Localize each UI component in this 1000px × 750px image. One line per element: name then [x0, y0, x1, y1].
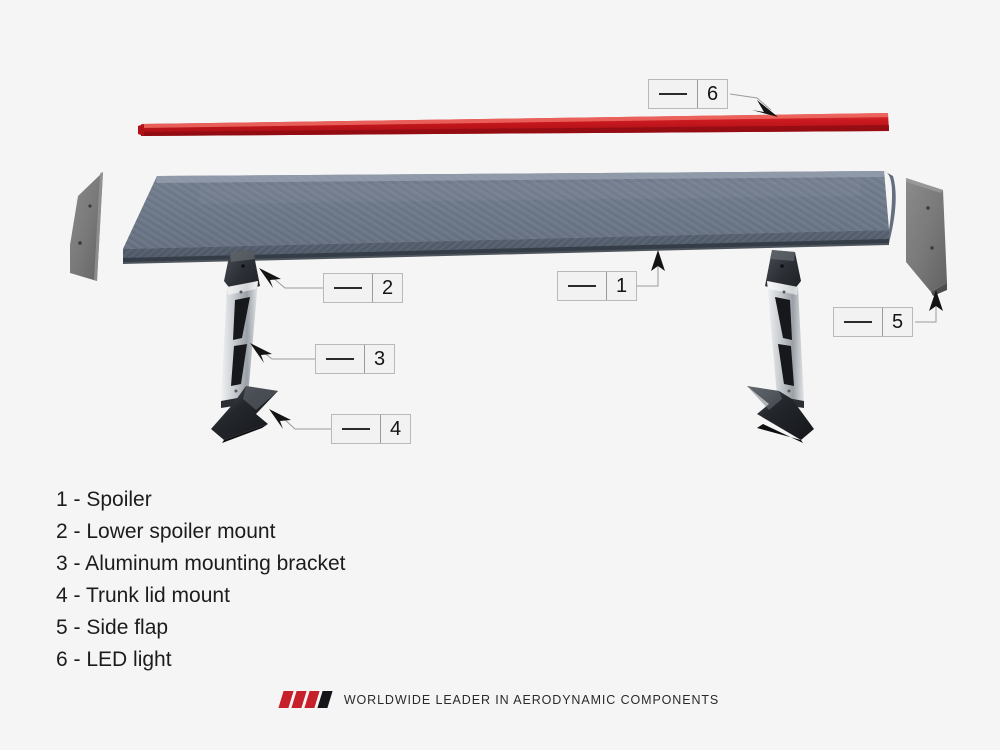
side-flap-left [70, 172, 103, 281]
aluminum-mounting-bracket-right [767, 281, 804, 408]
callout-5-number: 5 [883, 308, 912, 336]
callout-1-dash-cell [558, 272, 607, 300]
callout-dash-icon [844, 321, 872, 323]
legend-item-3: 3 - Aluminum mounting bracket [56, 548, 345, 580]
callout-5-dash-cell [834, 308, 883, 336]
callout-dash-icon [326, 358, 354, 360]
callout-dash-icon [342, 428, 370, 430]
spoiler-wing-blade [123, 171, 896, 264]
diagram-canvas: 1 2 3 4 5 6 1 - Spoiler 2 - Lower spoile… [0, 0, 1000, 750]
footer-tagline: WORLDWIDE LEADER IN AERODYNAMIC COMPONEN… [344, 693, 719, 707]
callout-1-spoiler[interactable]: 1 [557, 271, 637, 301]
callout-6-number: 6 [698, 80, 727, 108]
callout-dash-icon [334, 287, 362, 289]
trunk-lid-mount-right [747, 386, 814, 443]
callout-3-number: 3 [365, 345, 394, 373]
callout-6-dash-cell [649, 80, 698, 108]
callout-2-lower-spoiler-mount[interactable]: 2 [323, 273, 403, 303]
chevron-black-icon [317, 691, 332, 708]
legend-item-1: 1 - Spoiler [56, 484, 345, 516]
trunk-lid-mount-left [211, 386, 278, 443]
callout-4-trunk-lid-mount[interactable]: 4 [331, 414, 411, 444]
legend-item-4: 4 - Trunk lid mount [56, 580, 345, 612]
legend-item-5: 5 - Side flap [56, 612, 345, 644]
callout-3-dash-cell [316, 345, 365, 373]
callout-2-dash-cell [324, 274, 373, 302]
callout-4-dash-cell [332, 415, 381, 443]
callout-dash-icon [568, 285, 596, 287]
leader-lines [262, 94, 936, 429]
side-flap-right [906, 178, 947, 296]
legend-item-6: 6 - LED light [56, 644, 345, 676]
callout-dash-icon [659, 93, 687, 95]
parts-legend: 1 - Spoiler 2 - Lower spoiler mount 3 - … [56, 484, 345, 676]
callout-3-aluminum-bracket[interactable]: 3 [315, 344, 395, 374]
brand-chevrons-icon [281, 691, 333, 708]
footer-branding: WORLDWIDE LEADER IN AERODYNAMIC COMPONEN… [0, 691, 1000, 708]
callout-1-number: 1 [607, 272, 636, 300]
callout-2-number: 2 [373, 274, 402, 302]
callout-5-side-flap[interactable]: 5 [833, 307, 913, 337]
callout-6-led-light[interactable]: 6 [648, 79, 728, 109]
callout-4-number: 4 [381, 415, 410, 443]
legend-item-2: 2 - Lower spoiler mount [56, 516, 345, 548]
leader-arrowheads [250, 100, 943, 429]
